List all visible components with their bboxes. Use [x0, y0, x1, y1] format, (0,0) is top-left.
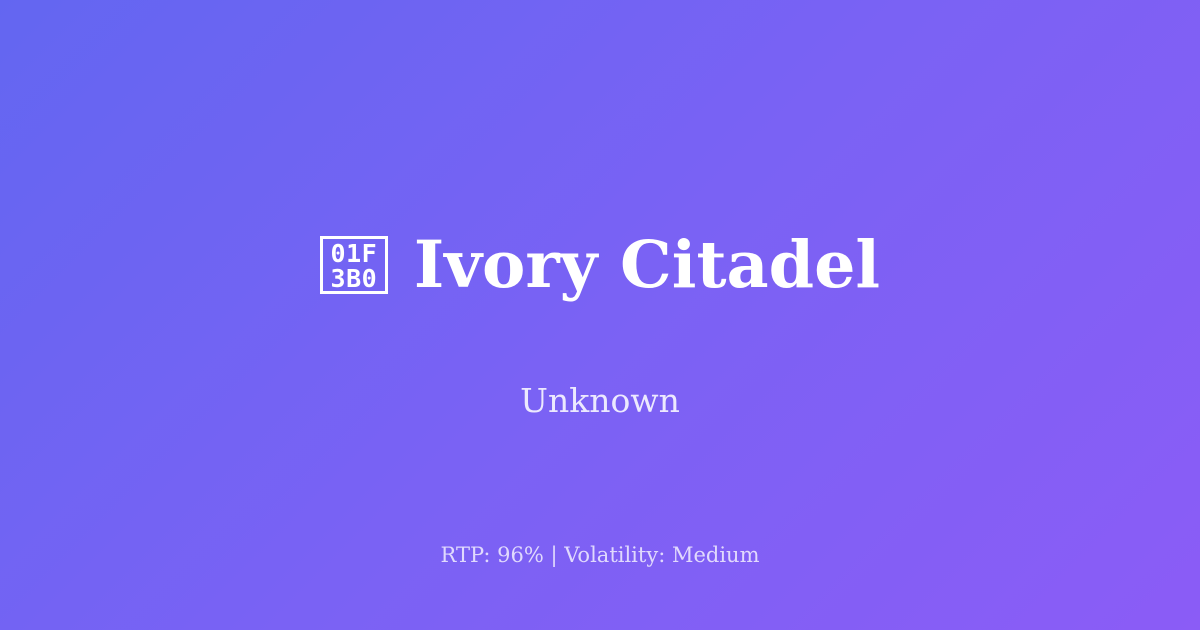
slot-machine-icon: 01F 3B0: [320, 236, 388, 294]
tofu-codepoint-bottom: 3B0: [331, 266, 378, 291]
game-stats: RTP: 96% | Volatility: Medium: [0, 543, 1200, 568]
provider-name: Unknown: [520, 381, 680, 421]
tofu-codepoint-top: 01F: [331, 241, 378, 266]
title-row: 01F 3B0 Ivory Citadel: [320, 188, 880, 343]
page-title: Ivory Citadel: [414, 231, 880, 299]
game-preview-card: 01F 3B0 Ivory Citadel Unknown RTP: 96% |…: [0, 0, 1200, 630]
